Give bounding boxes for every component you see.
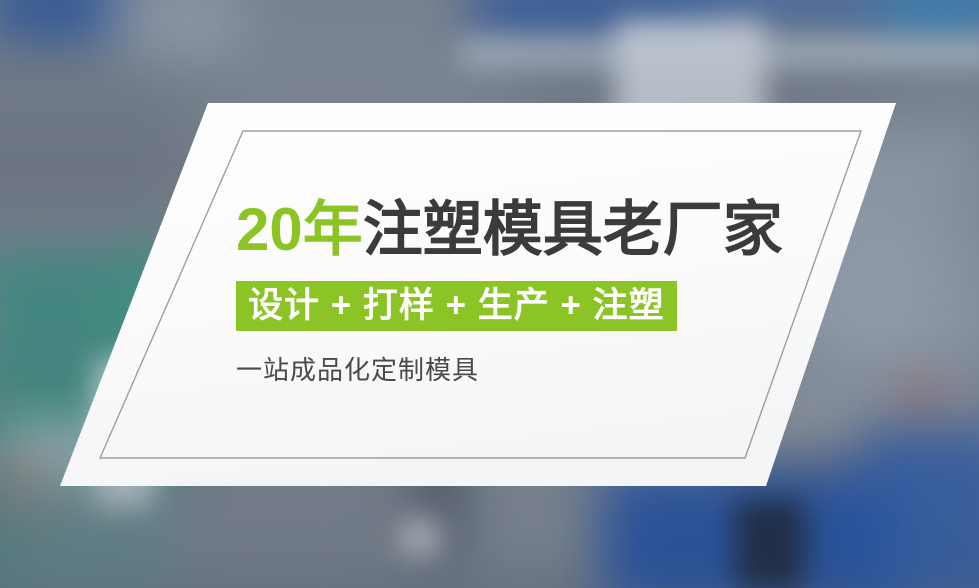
promo-banner: 20年注塑模具老厂家 设计 + 打样 + 生产 + 注塑 一站成品化定制模具: [0, 0, 979, 588]
headline-block: 20年注塑模具老厂家 设计 + 打样 + 生产 + 注塑 一站成品化定制模具: [236, 196, 836, 385]
service-tagline-bar: 设计 + 打样 + 生产 + 注塑: [236, 281, 677, 331]
headline-rest: 注塑模具老厂家: [363, 196, 783, 263]
years-highlight: 20年: [236, 196, 363, 263]
subtitle: 一站成品化定制模具: [236, 355, 836, 385]
page-title: 20年注塑模具老厂家: [236, 196, 836, 264]
